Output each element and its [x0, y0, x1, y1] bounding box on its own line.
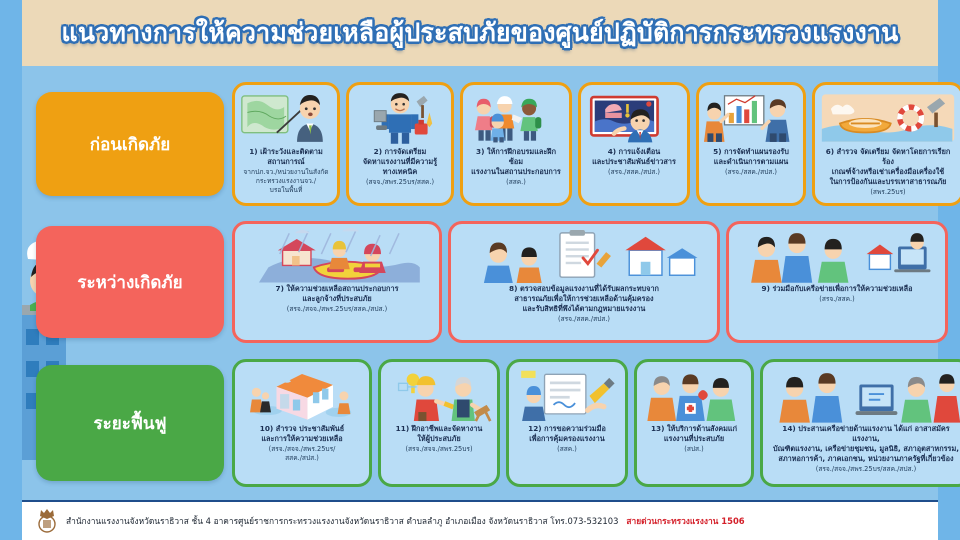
card-8[interactable]: 8) ตรวจสอบข้อมูลแรงงานที่ได้รับผลกระทบจา… [448, 221, 720, 343]
phases-board: ก่อนเกิดภัย [22, 66, 938, 500]
card-10-title: 10) สำรวจ ประชาสัมพันธ์และการให้ความช่วย… [258, 424, 346, 444]
card-8-text: 8) ตรวจสอบข้อมูลแรงงานที่ได้รับผลกระทบจา… [456, 284, 712, 336]
card-5[interactable]: 5) การจัดทำแผนรองรับและดำเนินการตามแผน (… [696, 82, 806, 206]
footer-address: สำนักงานแรงงานจังหวัดนราธิวาส ชั้น 4 อาค… [66, 514, 618, 528]
cards-row-before: 1) เฝ้าระวังและติดตามสถานการณ์ จากปภ.จว.… [232, 80, 960, 208]
infographic-page: แนวทางการให้ความช่วยเหลือผู้ประสบภัยของศ… [0, 0, 960, 540]
planning-presentation-icon [704, 89, 798, 147]
card-11[interactable]: 11) ฝึกอาชีพและจัดหางานให้ผู้ประสบภัย (ส… [378, 359, 500, 487]
card-9-title: 9) ร่วมมือกับเครือข่ายเพื่อการให้ความช่ว… [760, 284, 915, 294]
card-12-text: 12) การขอความร่วมมือเพื่อการคุ้มครองแรงง… [514, 424, 620, 480]
card-1[interactable]: 1) เฝ้าระวังและติดตามสถานการณ์ จากปภ.จว.… [232, 82, 340, 206]
card-4[interactable]: 4) การแจ้งเตือนและประชาสัมพันธ์ข่าวสาร (… [578, 82, 690, 206]
card-2-text: 2) การจัดเตรียมจัดหาแรงงานที่มีความรู้ทา… [354, 147, 446, 199]
card-11-title: 11) ฝึกอาชีพและจัดหางานให้ผู้ประสบภัย [394, 424, 485, 444]
card-10-sub: (สรจ./สจจ./สพร.25บร/สสค./สปส.) [267, 445, 338, 463]
card-7-text: 7) ให้ความช่วยเหลือสถานประกอบการและลูกจ้… [240, 284, 434, 336]
card-13[interactable]: 13) ให้บริการด้านสังคมแก่แรงงานที่ประสบภ… [634, 359, 754, 487]
weather-presenter-map-icon [240, 89, 332, 147]
card-4-text: 4) การแจ้งเตือนและประชาสัมพันธ์ข่าวสาร (… [586, 147, 682, 199]
card-14-title: 14) ประสานเครือข่ายด้านแรงงาน ได้แก่ อาส… [768, 424, 960, 464]
ministry-seal-icon [36, 508, 58, 534]
card-9[interactable]: 9) ร่วมมือกับเครือข่ายเพื่อการให้ความช่ว… [726, 221, 948, 343]
cards-row-recovery: 10) สำรวจ ประชาสัมพันธ์และการให้ความช่วย… [232, 356, 960, 490]
evacuation-drill-icon [468, 89, 564, 147]
card-7[interactable]: 7) ให้ความช่วยเหลือสถานประกอบการและลูกจ้… [232, 221, 442, 343]
card-11-text: 11) ฝึกอาชีพและจัดหางานให้ผู้ประสบภัย (ส… [386, 424, 492, 480]
phase-label-recovery: ระยะฟื้นฟู [36, 365, 224, 481]
phase-label-before: ก่อนเกิดภัย [36, 92, 224, 196]
card-1-title: 1) เฝ้าระวังและติดตามสถานการณ์ [247, 147, 325, 167]
card-6-title: 6) สำรวจ จัดเตรียม จัดหาโดยการเรียกร้องเ… [820, 147, 956, 187]
card-5-sub: (สรจ./สสค./สปส.) [723, 168, 779, 177]
card-2[interactable]: 2) การจัดเตรียมจัดหาแรงงานที่มีความรู้ทา… [346, 82, 454, 206]
card-8-title: 8) ตรวจสอบข้อมูลแรงงานที่ได้รับผลกระทบจา… [507, 284, 661, 314]
network-partners-icon [768, 366, 960, 424]
tv-news-broadcast-icon [586, 89, 682, 147]
vocational-training-icon [386, 366, 492, 424]
agreement-handshake-icon [514, 366, 620, 424]
card-5-text: 5) การจัดทำแผนรองรับและดำเนินการตามแผน (… [704, 147, 798, 199]
card-9-sub: (สรจ./สสค.) [817, 295, 856, 304]
card-13-sub: (สปส.) [682, 445, 705, 454]
rescue-boat-equipment-icon [820, 89, 956, 147]
card-11-sub: (สรจ./สจจ./สพร.25บร) [403, 445, 474, 454]
card-14-sub: (สรจ./สจจ./สพร.25บร/สสค./สปส.) [814, 465, 918, 474]
card-14[interactable]: 14) ประสานเครือข่ายด้านแรงงาน ได้แก่ อาส… [760, 359, 960, 487]
page-title: แนวทางการให้ความช่วยเหลือผู้ประสบภัยของศ… [62, 13, 899, 53]
left-color-band [0, 0, 22, 540]
card-2-sub: (สจจ./สพร.25บร/สสค.) [364, 178, 436, 187]
card-3[interactable]: 3) ให้การฝึกอบรมและฝึกซ้อมแรงงานในสถานปร… [460, 82, 572, 206]
card-12-title: 12) การขอความร่วมมือเพื่อการคุ้มครองแรงง… [526, 424, 608, 444]
card-13-text: 13) ให้บริการด้านสังคมแก่แรงงานที่ประสบภ… [642, 424, 746, 480]
footer-hotline: สายด่วนกระทรวงแรงงาน 1506 [626, 514, 744, 528]
card-6-sub: (สพร.25บร) [868, 188, 907, 197]
card-10[interactable]: 10) สำรวจ ประชาสัมพันธ์และการให้ความช่วย… [232, 359, 372, 487]
card-12-sub: (สสค.) [555, 445, 579, 454]
card-3-text: 3) ให้การฝึกอบรมและฝึกซ้อมแรงงานในสถานปร… [468, 147, 564, 199]
page-header: แนวทางการให้ความช่วยเหลือผู้ประสบภัยของศ… [22, 0, 938, 66]
social-services-icon [642, 366, 746, 424]
card-5-title: 5) การจัดทำแผนรองรับและดำเนินการตามแผน [711, 147, 791, 167]
phase-label-during: ระหว่างเกิดภัย [36, 226, 224, 338]
card-1-sub: จากปภ.จว./หน่วยงานในสังกัดกระทรวงแรงงานจ… [241, 168, 330, 195]
flood-rescue-boat-icon [240, 228, 434, 284]
phase-row-recovery: ระยะฟื้นฟู [22, 356, 938, 490]
card-2-title: 2) การจัดเตรียมจัดหาแรงงานที่มีความรู้ทา… [361, 147, 439, 177]
card-10-text: 10) สำรวจ ประชาสัมพันธ์และการให้ความช่วย… [240, 424, 364, 480]
worker-with-tools-icon [354, 89, 446, 147]
phase-row-before: ก่อนเกิดภัย [22, 80, 938, 208]
card-6-text: 6) สำรวจ จัดเตรียม จัดหาโดยการเรียกร้องเ… [820, 147, 956, 199]
phase-row-during: ระหว่างเกิดภัย [22, 218, 938, 346]
page-footer: สำนักงานแรงงานจังหวัดนราธิวาส ชั้น 4 อาค… [22, 500, 938, 540]
card-9-text: 9) ร่วมมือกับเครือข่ายเพื่อการให้ความช่ว… [734, 284, 940, 336]
card-1-text: 1) เฝ้าระวังและติดตามสถานการณ์ จากปภ.จว.… [240, 147, 332, 199]
card-13-title: 13) ให้บริการด้านสังคมแก่แรงงานที่ประสบภ… [649, 424, 739, 444]
cards-row-during: 7) ให้ความช่วยเหลือสถานประกอบการและลูกจ้… [232, 218, 960, 346]
card-7-sub: (สรจ./สจจ./สพร.25บร/สสค./สปส.) [285, 305, 389, 314]
card-14-text: 14) ประสานเครือข่ายด้านแรงงาน ได้แก่ อาส… [768, 424, 960, 480]
checklist-document-icon [456, 228, 712, 284]
card-12[interactable]: 12) การขอความร่วมมือเพื่อการคุ้มครองแรงง… [506, 359, 628, 487]
card-6[interactable]: 6) สำรวจ จัดเตรียม จัดหาโดยการเรียกร้องเ… [812, 82, 960, 206]
card-4-sub: (สรจ./สสค./สปส.) [606, 168, 662, 177]
card-8-sub: (สรจ./สสค./สปส.) [556, 315, 612, 324]
card-3-title: 3) ให้การฝึกอบรมและฝึกซ้อมแรงงานในสถานปร… [468, 147, 564, 177]
network-cooperation-icon [734, 228, 940, 284]
card-3-sub: (สสค.) [504, 178, 528, 187]
card-7-title: 7) ให้ความช่วยเหลือสถานประกอบการและลูกจ้… [274, 284, 401, 304]
card-4-title: 4) การแจ้งเตือนและประชาสัมพันธ์ข่าวสาร [590, 147, 678, 167]
damaged-house-survey-icon [240, 366, 364, 424]
